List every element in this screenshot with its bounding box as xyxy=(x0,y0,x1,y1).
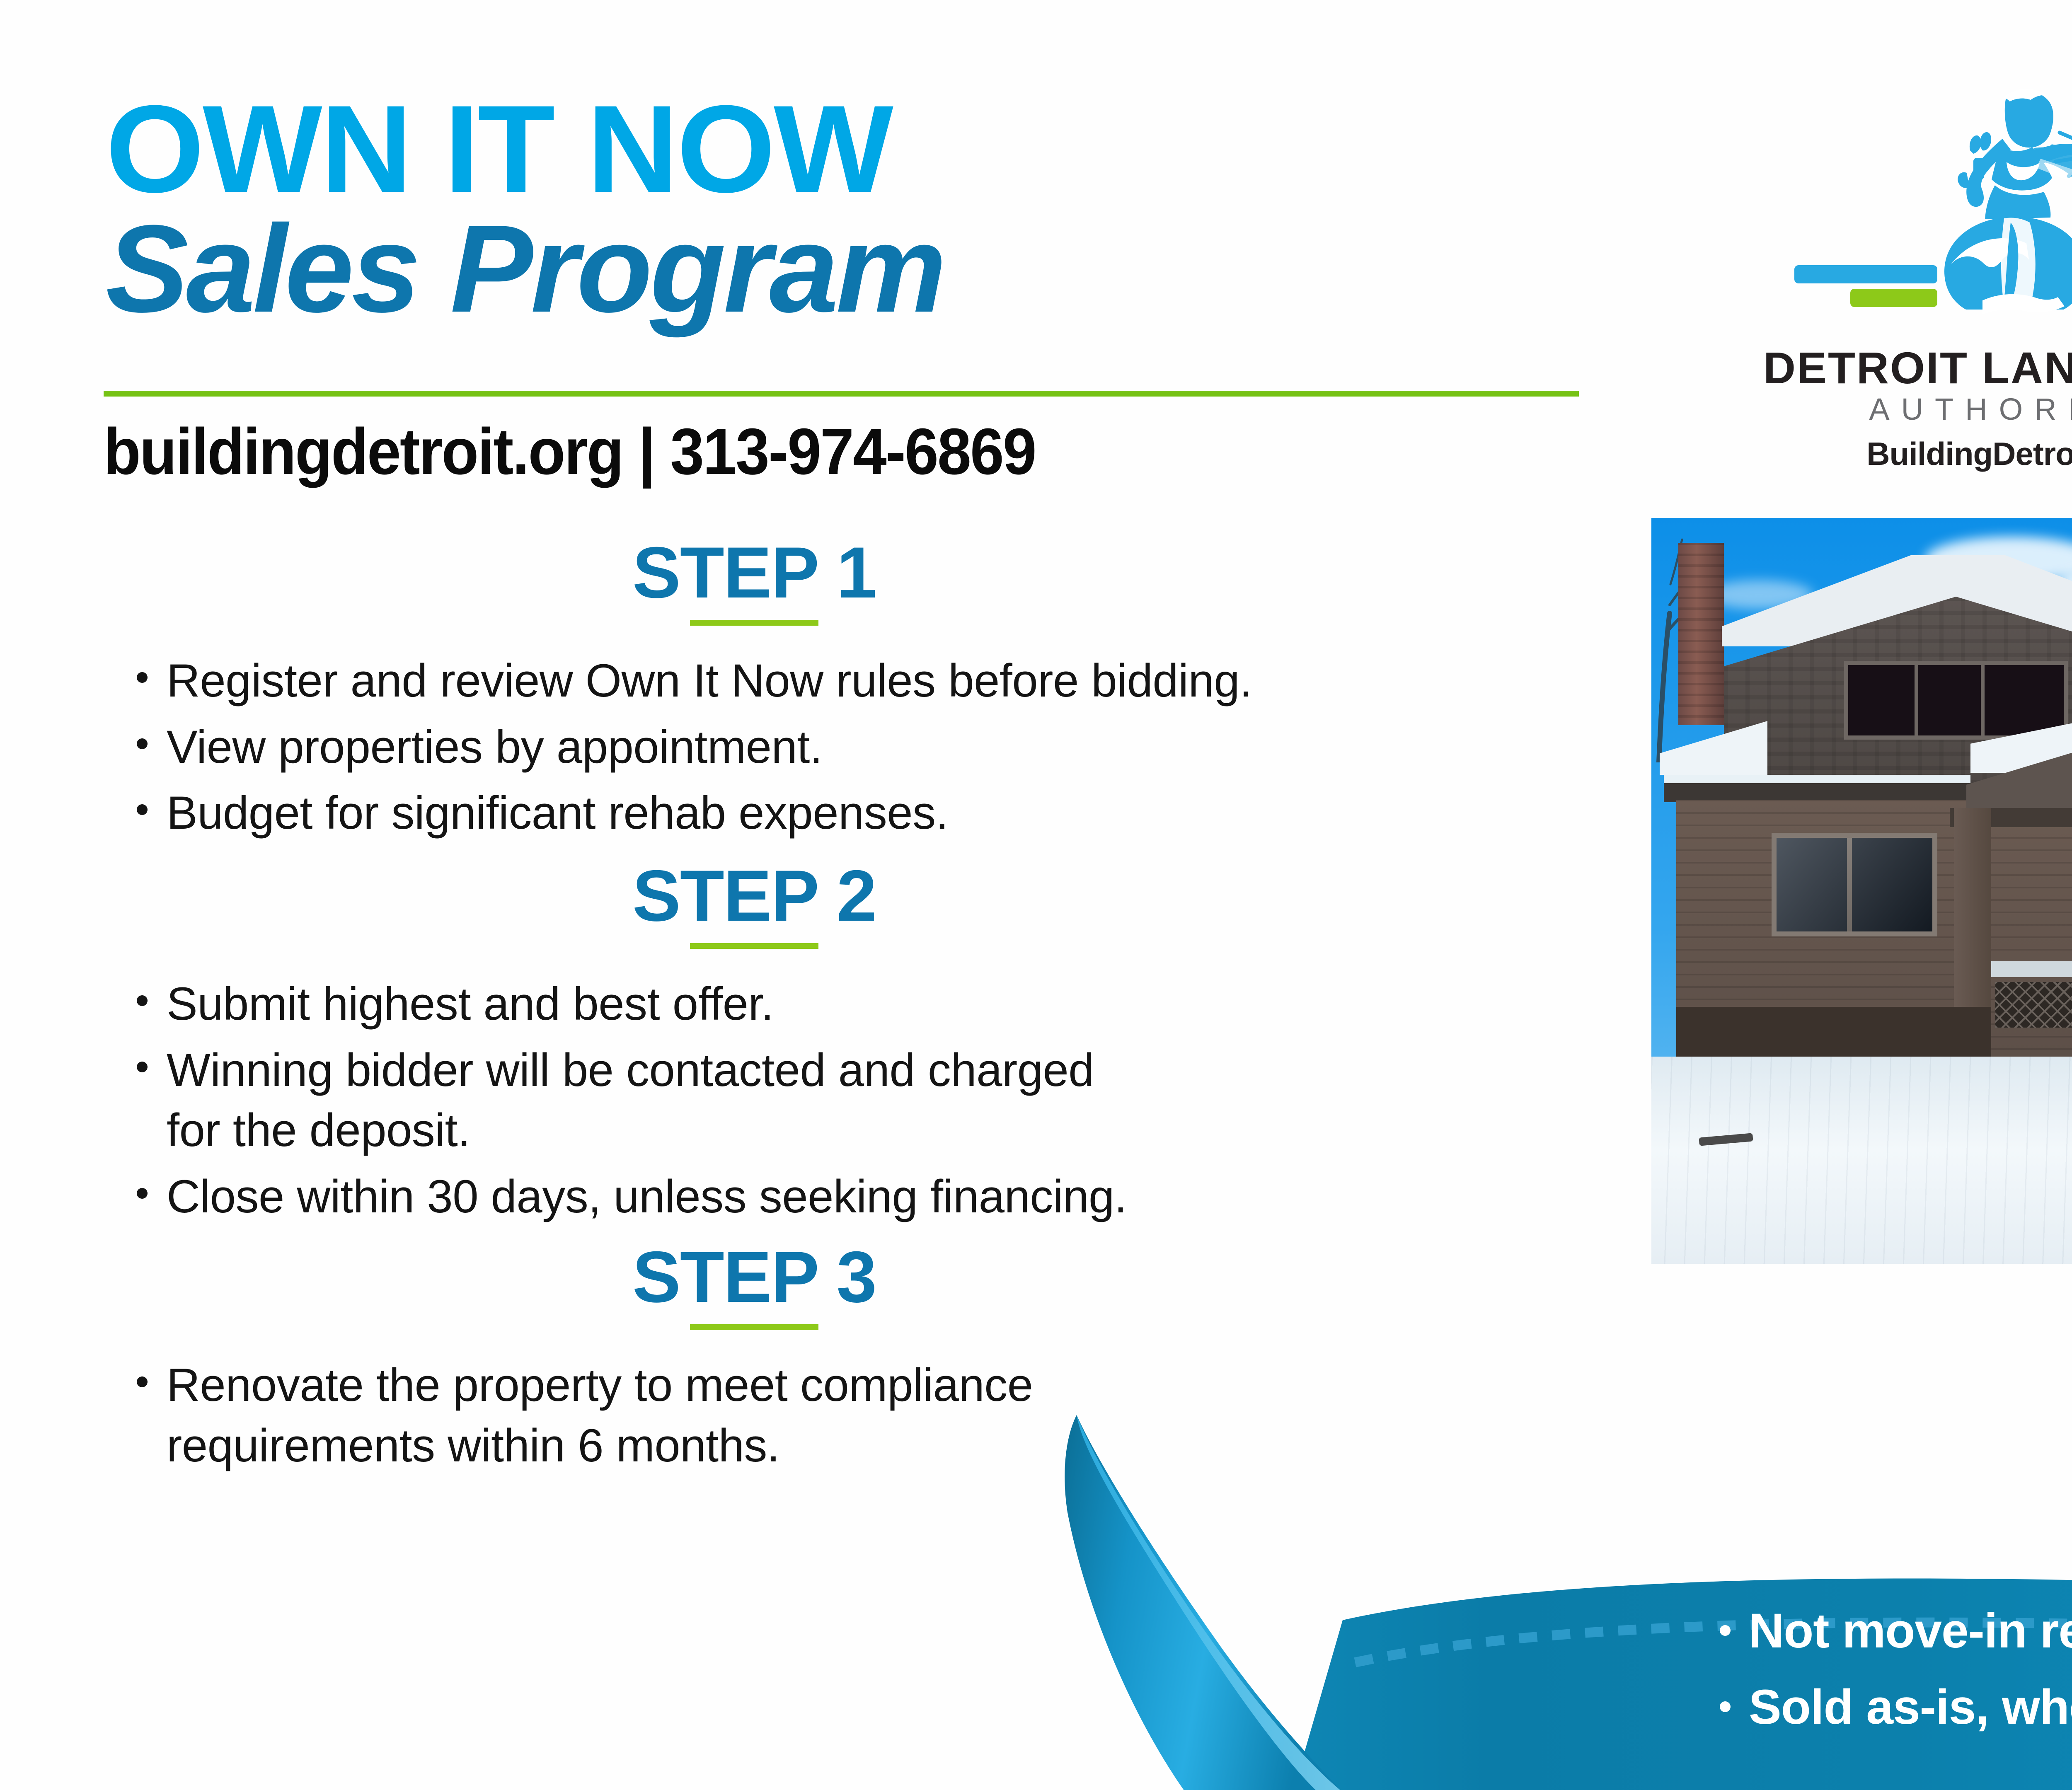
step-1-underline xyxy=(690,620,818,626)
list-item: View properties by appointment. xyxy=(128,717,1513,777)
logo-url[interactable]: BuildingDetroit.org xyxy=(1763,435,2072,473)
list-item: Not move-in ready xyxy=(1720,1604,2072,1658)
snow-covered-yard xyxy=(1651,1057,2072,1264)
contact-line[interactable]: buildingdetroit.org | 313-974-6869 xyxy=(104,414,1036,489)
page-title-secondary: Sales Program xyxy=(106,205,1598,332)
step-section-2: STEP 2 Submit highest and best offer. Wi… xyxy=(104,860,1513,1232)
flyer-canvas: OWN IT NOW Sales Program buildingdetroit… xyxy=(0,0,2072,1790)
list-item: Register and review Own It Now rules bef… xyxy=(128,651,1513,711)
upper-window xyxy=(1844,661,2068,740)
logo-name: DETROIT LAND BANK xyxy=(1763,342,2072,394)
list-item: Close within 30 days, unless seeking fin… xyxy=(128,1166,1513,1227)
list-item: Renovate the property to meet compliance… xyxy=(128,1355,1144,1476)
title-block: OWN IT NOW Sales Program xyxy=(106,89,1598,332)
window-mullion xyxy=(1915,665,1918,735)
list-item: Budget for significant rehab expenses. xyxy=(128,783,1513,843)
title-divider-rule xyxy=(104,391,1579,397)
window-mullion xyxy=(1847,838,1852,931)
step-1-bullet-list: Register and review Own It Now rules bef… xyxy=(104,651,1513,843)
detroit-land-bank-logo: DETROIT LAND BANK AUTHORITY BuildingDetr… xyxy=(1763,77,2072,462)
property-photo xyxy=(1651,518,2072,1264)
main-window xyxy=(1772,833,1937,936)
ribbon-curl xyxy=(1065,1415,1343,1790)
logo-bar-green-left xyxy=(1850,289,1937,307)
porch-lattice xyxy=(1995,982,2072,1028)
ribbon-bullet-list: Not move-in ready Sold as-is, where-is xyxy=(1720,1604,2072,1756)
step-1-heading: STEP 1 xyxy=(464,537,1044,609)
logo-accent-bars xyxy=(1763,265,2072,319)
porch-column-left xyxy=(1954,808,1991,1023)
list-item: Submit highest and best offer. xyxy=(128,974,1513,1034)
step-3-heading: STEP 3 xyxy=(464,1241,1044,1313)
step-2-bullet-list: Submit highest and best offer. Winning b… xyxy=(104,974,1513,1226)
window-mullion xyxy=(1981,665,1985,735)
logo-subtitle: AUTHORITY xyxy=(1763,392,2072,427)
step-3-underline xyxy=(690,1324,818,1330)
step-2-heading: STEP 2 xyxy=(464,860,1044,932)
list-item: Winning bidder will be contacted and cha… xyxy=(128,1040,1144,1161)
porch-floor xyxy=(1991,961,2072,977)
chimney xyxy=(1678,543,1724,725)
step-section-1: STEP 1 Register and review Own It Now ru… xyxy=(104,537,1513,849)
logo-bar-blue-left xyxy=(1794,265,1937,283)
step-2-underline xyxy=(690,943,818,949)
list-item: Sold as-is, where-is xyxy=(1720,1680,2072,1734)
page-title-primary: OWN IT NOW xyxy=(106,89,1627,208)
